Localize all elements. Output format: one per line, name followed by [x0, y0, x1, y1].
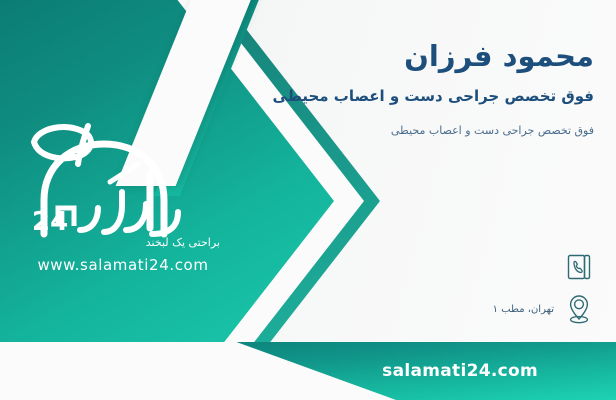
logo-tagline: براحتی یک لبخند [146, 236, 220, 249]
contact-row-phone[interactable] [296, 248, 596, 286]
business-card: 24 براحتی یک لبخند www.salamati24.com مح… [0, 0, 616, 400]
brand-logo: 24 براحتی یک لبخند www.salamati24.com [18, 108, 228, 278]
doctor-info: محمود فرزان فوق تخصص جراحی دست و اعصاب م… [234, 38, 594, 140]
contact-list: تهران، مطب ۱ [296, 248, 596, 332]
logo-website: www.salamati24.com [18, 256, 228, 274]
footer-website: salamati24.com [382, 361, 538, 381]
contact-row-location[interactable]: تهران، مطب ۱ [296, 290, 596, 328]
doctor-name: محمود فرزان [234, 38, 594, 74]
doctor-specialty: فوق تخصص جراحی دست و اعصاب محیطی [234, 86, 594, 107]
location-pin-icon [562, 292, 596, 326]
phone-book-icon [562, 250, 596, 284]
footer-bar: salamati24.com [0, 342, 616, 400]
logo-badge-24: 24 [32, 207, 68, 237]
contact-label-location: تهران، مطب ۱ [493, 304, 554, 315]
doctor-specialty-secondary: فوق تخصص جراحی دست و اعصاب محیطی [234, 123, 594, 140]
footer-content: salamati24.com [0, 342, 616, 400]
